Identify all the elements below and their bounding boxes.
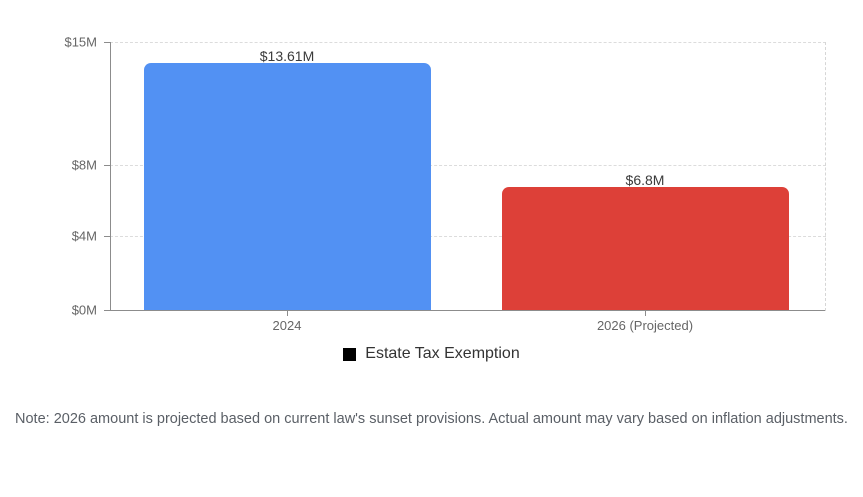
plot-area: $15M $8M $4M $0M $13.61M $6.8M 2024 2026… — [0, 0, 863, 340]
y-tick-label-0m: $0M — [72, 303, 97, 318]
y-tick-mark-15m — [104, 42, 111, 43]
chart-legend: Estate Tax Exemption — [0, 346, 863, 362]
x-tick-label-2024: 2024 — [273, 318, 302, 333]
bar-2026-projected[interactable] — [502, 187, 789, 310]
x-tick-mark-2026-projected — [645, 310, 646, 316]
x-tick-label-2026-projected: 2026 (Projected) — [597, 318, 693, 333]
legend-swatch-icon — [343, 348, 356, 361]
plot-right-border — [825, 42, 826, 311]
bar-value-label-2026-projected: $6.8M — [626, 172, 665, 188]
y-tick-label-15m: $15M — [64, 35, 97, 50]
estate-tax-exemption-bar-chart: $15M $8M $4M $0M $13.61M $6.8M 2024 2026… — [0, 0, 863, 497]
y-tick-mark-4m — [104, 236, 111, 237]
gridline-15m — [110, 42, 826, 43]
y-tick-mark-8m — [104, 165, 111, 166]
x-axis-line — [110, 310, 826, 311]
y-tick-mark-0m — [104, 310, 111, 311]
legend-label-estate-tax-exemption[interactable]: Estate Tax Exemption — [365, 346, 519, 362]
y-tick-label-4m: $4M — [72, 229, 97, 244]
x-tick-mark-2024 — [287, 310, 288, 316]
y-tick-label-8m: $8M — [72, 158, 97, 173]
chart-footnote: Note: 2026 amount is projected based on … — [0, 408, 863, 430]
bar-value-label-2024: $13.61M — [260, 48, 314, 64]
y-axis-line — [110, 42, 111, 311]
bar-2024[interactable] — [144, 63, 431, 310]
